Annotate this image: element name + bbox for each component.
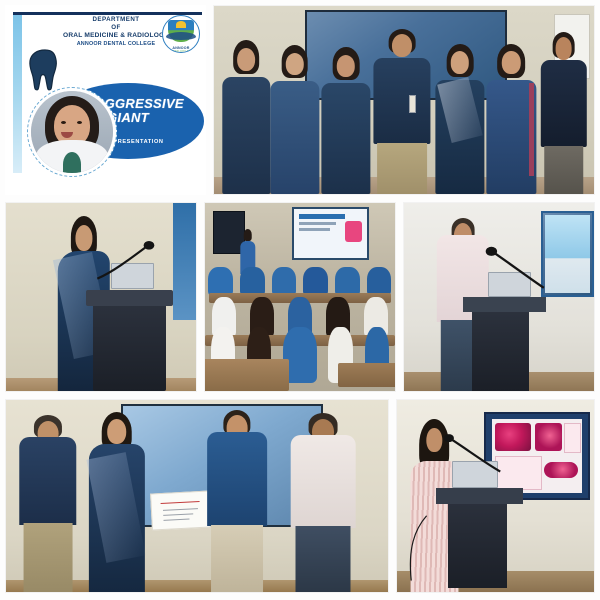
group-person-5 xyxy=(434,44,485,194)
title-card-top-rule xyxy=(13,12,202,15)
person-head xyxy=(107,419,127,444)
logo-sun-shape xyxy=(176,21,186,28)
person-head xyxy=(237,48,255,71)
photo-speaker-woman-saree xyxy=(5,202,197,392)
person-trousers xyxy=(211,525,263,592)
person-body xyxy=(223,77,270,194)
slide-text-line xyxy=(299,228,331,230)
photo-speaker-woman-striped xyxy=(396,399,595,593)
person-shirt xyxy=(207,432,267,527)
portrait-eye-left xyxy=(61,121,66,124)
histology-panel-c xyxy=(564,423,581,453)
person-trousers xyxy=(544,146,584,195)
podium-top xyxy=(86,290,173,307)
certificate-text-line xyxy=(164,518,189,520)
group-person-2 xyxy=(269,45,320,194)
collage-row-3 xyxy=(5,399,595,593)
logo-wave-shape xyxy=(166,32,196,40)
person-id-badge xyxy=(409,95,416,114)
certificate-text-line xyxy=(164,513,194,516)
presenter-portrait-avatar xyxy=(27,87,117,177)
photo-speaker-man-podium xyxy=(403,202,595,392)
person-hair xyxy=(243,229,252,241)
histology-panel-b xyxy=(535,423,562,451)
person-body xyxy=(321,83,370,194)
photo-certificate-presentation xyxy=(5,399,389,593)
college-name: ANNOOR DENTAL COLLEGE xyxy=(51,41,181,48)
person-shirt xyxy=(19,437,76,525)
slide-title-bar xyxy=(299,214,345,219)
dupatta-edge xyxy=(529,83,534,176)
person-trousers xyxy=(296,526,351,592)
person-shirt xyxy=(374,58,431,144)
person-shirt xyxy=(291,435,356,528)
group-person-1 xyxy=(222,40,271,194)
collage-row-2 xyxy=(5,202,595,392)
slide-sky-image xyxy=(545,215,590,294)
person-head xyxy=(337,55,355,77)
person-head xyxy=(451,51,469,74)
projection-screen xyxy=(541,211,594,298)
award-person-4 xyxy=(289,413,358,592)
microphone-icon xyxy=(93,237,158,286)
tooth-icon xyxy=(25,48,65,92)
podium xyxy=(93,293,165,391)
photo-collage: DEPARTMENT OF ORAL MEDICINE & RADIOLOGY … xyxy=(0,0,600,600)
podium-top xyxy=(436,488,523,503)
portrait-eye-right xyxy=(77,121,82,124)
person-body xyxy=(270,81,319,194)
projection-screen xyxy=(292,207,368,260)
foreground-desk xyxy=(204,359,289,391)
department-line-1: DEPARTMENT xyxy=(51,16,181,24)
award-person-3 xyxy=(205,410,270,592)
person-head xyxy=(555,37,572,60)
foreground-desk xyxy=(338,363,396,387)
certificate-heading-line xyxy=(161,501,200,504)
slide-text-line xyxy=(299,222,337,224)
award-person-1 xyxy=(17,415,78,592)
microphone-icon xyxy=(440,431,507,481)
photo-audience-classroom xyxy=(204,202,396,392)
presenter-portrait-image xyxy=(31,91,113,173)
histology-panel-d xyxy=(544,462,578,478)
title-card: DEPARTMENT OF ORAL MEDICINE & RADIOLOGY … xyxy=(5,5,206,195)
microphone-icon xyxy=(480,241,548,294)
group-person-4 xyxy=(372,29,433,194)
portrait-inner-top xyxy=(63,152,81,173)
photo-group-photo xyxy=(213,5,595,195)
microphone-cable xyxy=(401,504,452,592)
logo-tagline-text: DENTAL COLLEGE xyxy=(163,50,199,53)
person-trousers xyxy=(24,523,73,592)
group-person-7 xyxy=(539,32,588,194)
collage-row-1: DEPARTMENT OF ORAL MEDICINE & RADIOLOGY … xyxy=(5,5,595,195)
group-person-6 xyxy=(486,44,537,194)
person-head xyxy=(286,53,304,75)
person-head xyxy=(75,225,92,251)
person-head xyxy=(502,51,520,74)
window-blind xyxy=(173,203,196,320)
award-person-2 xyxy=(86,412,147,592)
college-logo-icon: ANNOOR DENTAL COLLEGE xyxy=(162,15,200,53)
group-person-3 xyxy=(320,47,371,194)
person-trousers xyxy=(377,143,427,194)
certificate-text-line xyxy=(164,508,198,511)
certificate xyxy=(150,491,211,531)
title-card-left-strip xyxy=(13,15,22,173)
slide-clinical-image xyxy=(345,221,362,242)
podium-top xyxy=(463,297,547,312)
person-head xyxy=(392,34,412,57)
person-shirt xyxy=(540,60,586,147)
podium xyxy=(472,301,529,391)
